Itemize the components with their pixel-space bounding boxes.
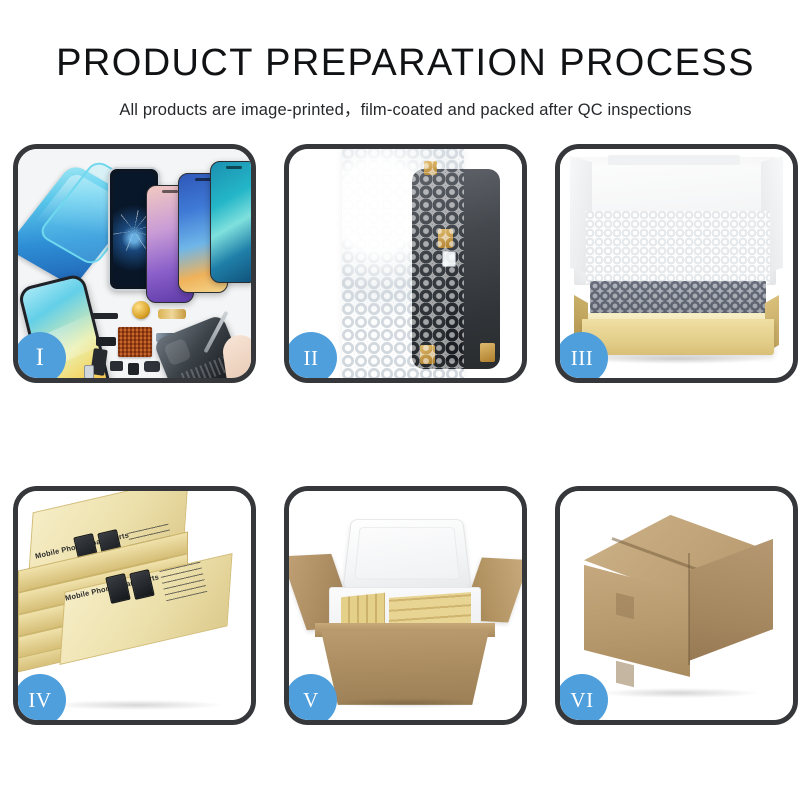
gold-contact-icon (480, 343, 495, 362)
small-part-icon (144, 361, 160, 372)
drop-shadow (333, 698, 481, 708)
process-step-1-product-selection[interactable]: I (13, 144, 256, 383)
page-header: PRODUCT PREPARATION PROCESS All products… (0, 0, 811, 120)
carton-vertical-edge-icon (688, 553, 690, 665)
drop-shadow (600, 688, 758, 698)
process-step-4-retail-box-stacking[interactable]: Mobile Phone Spare Parts Mobile Phone Sp… (13, 486, 256, 725)
camera-module-icon (96, 337, 116, 346)
step-badge-3: III (556, 332, 608, 383)
notch-icon (195, 178, 211, 182)
lid-top-edge-icon (608, 155, 740, 165)
process-step-6-sealed-carton-shipping[interactable]: VI (555, 486, 798, 725)
smartphone-icon-teal (210, 161, 251, 283)
speaker-part-icon (92, 313, 118, 319)
flex-cable-icon (158, 309, 186, 319)
foam-sheet-icon (586, 211, 770, 285)
step-badge-4: IV (14, 674, 66, 725)
step-badge-1: I (14, 332, 66, 383)
gold-contact-icon (420, 345, 435, 364)
step-badge-2: II (285, 332, 337, 383)
small-part-icon (110, 361, 123, 371)
process-step-5-carton-loading[interactable]: V (284, 486, 527, 725)
chip-array-icon (118, 327, 152, 357)
process-step-3-inner-box-packing[interactable]: III (555, 144, 798, 383)
bubble-wrap-icon (342, 149, 464, 378)
page-subtitle: All products are image-printed，film-coat… (0, 96, 811, 120)
kraft-tray-front-icon (582, 319, 774, 355)
drop-shadow (588, 354, 766, 364)
step-badge-5: V (285, 674, 337, 725)
gold-contact-icon (438, 229, 453, 248)
ic-chip-icon (442, 251, 456, 267)
step-badge-6: VI (556, 674, 608, 725)
screws-icon (216, 377, 242, 378)
page-title: PRODUCT PREPARATION PROCESS (0, 44, 811, 84)
small-part-icon (128, 363, 139, 375)
sim-tray-icon (84, 365, 94, 378)
notch-icon (162, 190, 178, 194)
foam-lid-icon (342, 519, 471, 589)
open-carton-icon (321, 631, 489, 705)
gold-contact-icon (424, 161, 437, 175)
drop-shadow (52, 700, 222, 710)
notch-icon (226, 166, 242, 170)
process-step-grid: I II (11, 144, 801, 725)
packing-tape-icon (616, 661, 634, 687)
vibration-motor-icon (132, 301, 150, 319)
packing-tape-icon (616, 593, 634, 619)
process-step-2-bubble-wrap-packing[interactable]: II (284, 144, 527, 383)
